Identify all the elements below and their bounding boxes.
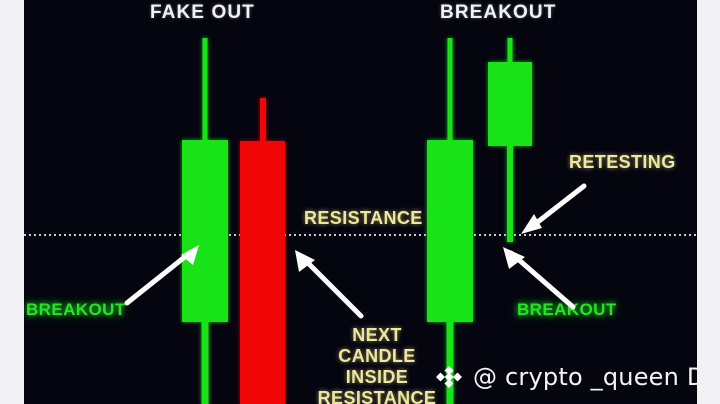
annotation-line-1: NEXT (312, 325, 442, 346)
candle-fakeout-2-bearish (240, 98, 285, 404)
annotation-line-3: INSIDE (312, 367, 442, 388)
candle-wick-upper (448, 38, 453, 142)
annotation-retesting: RETESTING (569, 152, 676, 173)
border-right (697, 0, 720, 404)
candle-wick-lower (507, 144, 513, 242)
arrow-retesting (516, 178, 591, 238)
candle-body (488, 62, 532, 146)
candle-wick-upper (203, 38, 208, 142)
resistance-label: RESISTANCE (304, 208, 423, 229)
resistance-line (24, 234, 697, 236)
watermark-handle-main: @ crypto _queen DX (473, 363, 697, 391)
border-left (0, 0, 24, 404)
chart-canvas: FAKE OUT BREAKOUT RESISTANCE (24, 0, 697, 404)
arrow-breakout-left (119, 243, 209, 308)
screenshot-root: FAKE OUT BREAKOUT RESISTANCE (0, 0, 720, 404)
arrow-breakout-right (501, 245, 583, 317)
candle-body (240, 141, 285, 404)
annotation-breakout-left: BREAKOUT (26, 300, 126, 320)
panel-heading-fake-out: FAKE OUT (150, 2, 255, 24)
watermark: @ crypto _queen DXC (434, 362, 697, 392)
candle-fakeout-1-bullish (182, 38, 228, 404)
candle-body (427, 140, 473, 322)
annotation-next-candle-inside-resistance: NEXT CANDLE INSIDE RESISTANCE (312, 325, 442, 404)
watermark-handle: @ crypto _queen DXC (473, 363, 697, 391)
panel-heading-breakout: BREAKOUT (440, 2, 556, 24)
annotation-line-2: CANDLE (312, 346, 442, 367)
candle-wick-lower (202, 320, 209, 404)
binance-diamond-icon (434, 362, 464, 392)
arrow-next-candle (289, 244, 369, 324)
candle-wick-upper (260, 98, 266, 143)
annotation-line-4: RESISTANCE (312, 388, 442, 404)
